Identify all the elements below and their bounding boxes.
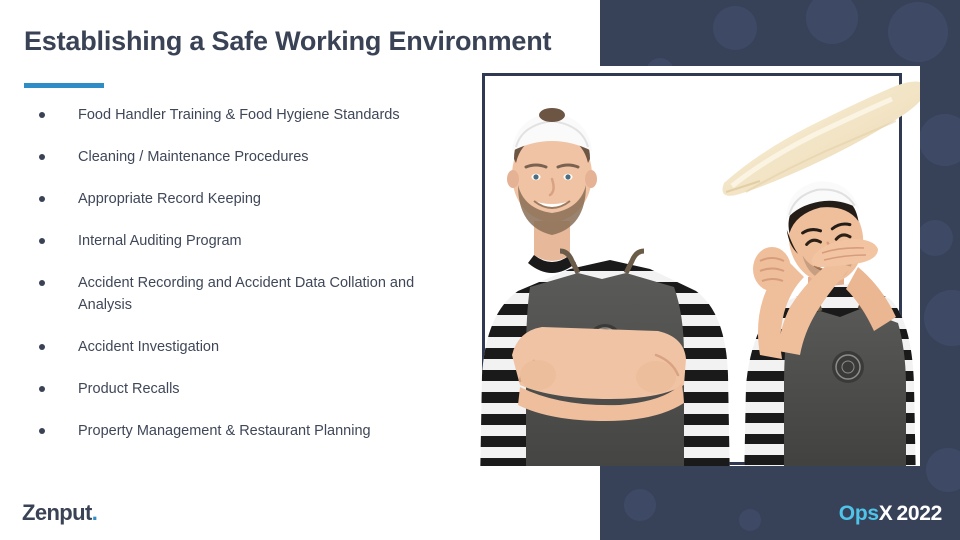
zenput-wordmark: Zenput <box>22 500 92 525</box>
list-item-label: Appropriate Record Keeping <box>78 188 261 210</box>
bullet-dot-icon <box>39 238 45 244</box>
chef-left <box>470 108 740 485</box>
opsx-year-text: 2022 <box>896 502 942 525</box>
list-item: Food Handler Training & Food Hygiene Sta… <box>24 104 464 126</box>
bullet-dot-icon <box>39 344 45 350</box>
list-item-label: Cleaning / Maintenance Procedures <box>78 146 309 168</box>
opsx-ops-text: Ops <box>839 502 879 525</box>
list-item: Internal Auditing Program <box>24 230 464 252</box>
list-item: Property Management & Restaurant Plannin… <box>24 420 464 442</box>
zenput-period-icon: . <box>92 500 98 525</box>
list-item-label: Accident Recording and Accident Data Col… <box>78 272 450 316</box>
list-item-label: Food Handler Training & Food Hygiene Sta… <box>78 104 400 126</box>
opsx-2022-logo: OpsX2022 <box>839 502 942 526</box>
list-item: Appropriate Record Keeping <box>24 188 464 210</box>
list-item: Product Recalls <box>24 378 464 400</box>
bullet-dot-icon <box>39 196 45 202</box>
photo-block <box>460 55 940 485</box>
chef-right <box>738 175 928 485</box>
list-item-label: Internal Auditing Program <box>78 230 242 252</box>
opsx-x-text: X <box>879 502 893 525</box>
list-item-label: Product Recalls <box>78 378 180 400</box>
bullet-dot-icon <box>39 154 45 160</box>
list-item-label: Accident Investigation <box>78 336 219 358</box>
presentation-slide: Establishing a Safe Working Environment … <box>0 0 960 540</box>
bullet-dot-icon <box>39 112 45 118</box>
list-item-label: Property Management & Restaurant Plannin… <box>78 420 371 442</box>
bullet-list: Food Handler Training & Food Hygiene Sta… <box>24 104 464 462</box>
list-item: Accident Recording and Accident Data Col… <box>24 272 464 316</box>
bullet-dot-icon <box>39 428 45 434</box>
title-accent-bar <box>24 83 104 88</box>
list-item: Cleaning / Maintenance Procedures <box>24 146 464 168</box>
zenput-logo: Zenput. <box>22 500 97 526</box>
bullet-dot-icon <box>39 386 45 392</box>
bullet-dot-icon <box>39 280 45 286</box>
pizza-chefs-photo <box>460 55 940 485</box>
pizza-dough <box>723 81 927 195</box>
page-title: Establishing a Safe Working Environment <box>24 26 551 57</box>
list-item: Accident Investigation <box>24 336 464 358</box>
